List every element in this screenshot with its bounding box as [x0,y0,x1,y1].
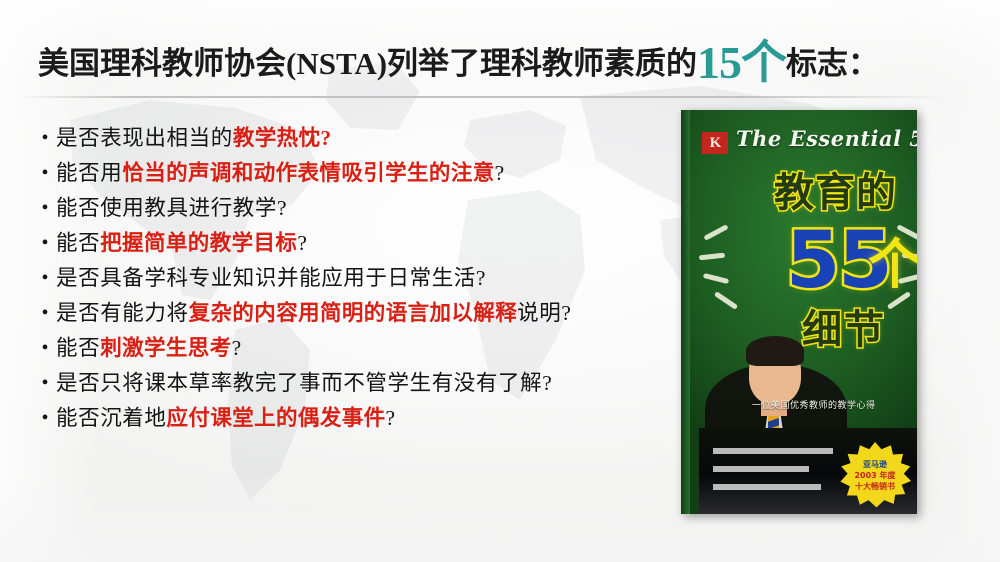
bullet-item: •能否用恰当的声调和动作表情吸引学生的注意? [34,157,674,192]
publisher-logo-icon: K [702,132,728,154]
bullet-segment: ? [297,231,307,255]
bullet-item: •是否具备学科专业知识并能应用于日常生活? [34,262,674,297]
bullet-item: •是否只将课本草率教完了事而不管学生有没有了解? [34,367,674,402]
bullet-marker-icon: • [34,297,56,329]
badge-line-3: 十大畅销书 [855,481,895,492]
bullet-marker-icon: • [34,262,56,294]
book-chinese-title: 教育的 [774,170,897,216]
bullet-segment: 是否表现出相当的 [56,126,233,150]
bullet-segment: 能否 [56,336,100,360]
book-cover-face: K The Essential 55 教育的 55 个 细节 [690,110,917,514]
bullet-segment: 教学热忱? [233,126,332,150]
presentation-slide: 美国理科教师协会(NSTA)列举了理科教师素质的15个标志： •是否表现出相当的… [0,0,1000,562]
book-english-title: The Essential 55 [736,126,911,151]
bullet-marker-icon: • [34,192,56,224]
bullet-segment: 是否具备学科专业知识并能应用于日常生活? [56,266,486,290]
bullet-segment: ? [232,336,242,360]
bullet-marker-icon: • [34,122,56,154]
bullet-item: •是否有能力将复杂的内容用简明的语言加以解释说明? [34,297,674,332]
bullet-text: 能否用恰当的声调和动作表情吸引学生的注意? [56,157,505,190]
bullet-marker-icon: • [34,367,56,399]
bullet-marker-icon: • [34,402,56,434]
bullet-marker-icon: • [34,227,56,259]
bullet-text: 能否沉着地应付课堂上的偶发事件? [56,402,396,435]
badge-line-2: 2003 年度 [854,470,895,481]
bullet-segment: 把握简单的教学目标 [100,231,297,255]
book-tagline: 一位美国优秀教师的教学心得 [752,398,876,411]
bullet-segment: 是否只将课本草率教完了事而不管学生有没有了解? [56,371,552,395]
book-unit-character: 个 [868,238,917,292]
book-cover-image: K The Essential 55 教育的 55 个 细节 [681,110,917,514]
bullet-segment: 能否用 [56,161,122,185]
bullet-text: 能否把握简单的教学目标? [56,227,307,260]
bullet-segment: ? [386,406,396,430]
book-spine [681,110,690,514]
bullet-segment: 说明? [517,301,571,325]
bullet-marker-icon: • [34,157,56,189]
bullet-item: •能否把握简单的教学目标? [34,227,674,262]
bullet-text: 是否具备学科专业知识并能应用于日常生活? [56,262,486,295]
bullet-text: 是否有能力将复杂的内容用简明的语言加以解释说明? [56,297,571,330]
bullet-marker-icon: • [34,332,56,364]
bullet-text: 能否刺激学生思考? [56,332,242,365]
bullet-segment: 能否使用教具进行教学? [56,196,287,220]
title-lead: 美国理科教师协会(NSTA)列举了理科教师素质的 [38,46,697,81]
bullet-list: •是否表现出相当的教学热忱?•能否用恰当的声调和动作表情吸引学生的注意?•能否使… [34,122,674,437]
bullet-segment: 是否有能力将 [56,301,189,325]
bullet-text: 是否只将课本草率教完了事而不管学生有没有了解? [56,367,552,400]
title-accent-number: 15个 [697,37,786,88]
badge-line-1: 亚马逊 [863,459,887,470]
bullet-segment: 复杂的内容用简明的语言加以解释 [189,301,518,325]
bullet-item: •是否表现出相当的教学热忱? [34,122,674,157]
bullet-segment: 刺激学生思考 [100,336,231,360]
bullet-segment: ? [495,161,505,185]
bullet-item: •能否使用教具进行教学? [34,192,674,227]
page-title: 美国理科教师协会(NSTA)列举了理科教师素质的15个标志： [38,36,938,96]
bullet-segment: 能否 [56,231,100,255]
bullet-item: •能否刺激学生思考? [34,332,674,367]
bullet-text: 是否表现出相当的教学热忱? [56,122,332,155]
bullet-item: •能否沉着地应付课堂上的偶发事件? [34,402,674,437]
title-tail: 标志： [786,46,879,81]
bullet-segment: 应付课堂上的偶发事件 [167,406,386,430]
bullet-text: 能否使用教具进行教学? [56,192,287,225]
bullet-segment: 能否沉着地 [56,406,167,430]
bullet-segment: 恰当的声调和动作表情吸引学生的注意 [122,161,494,185]
title-divider [18,96,948,98]
